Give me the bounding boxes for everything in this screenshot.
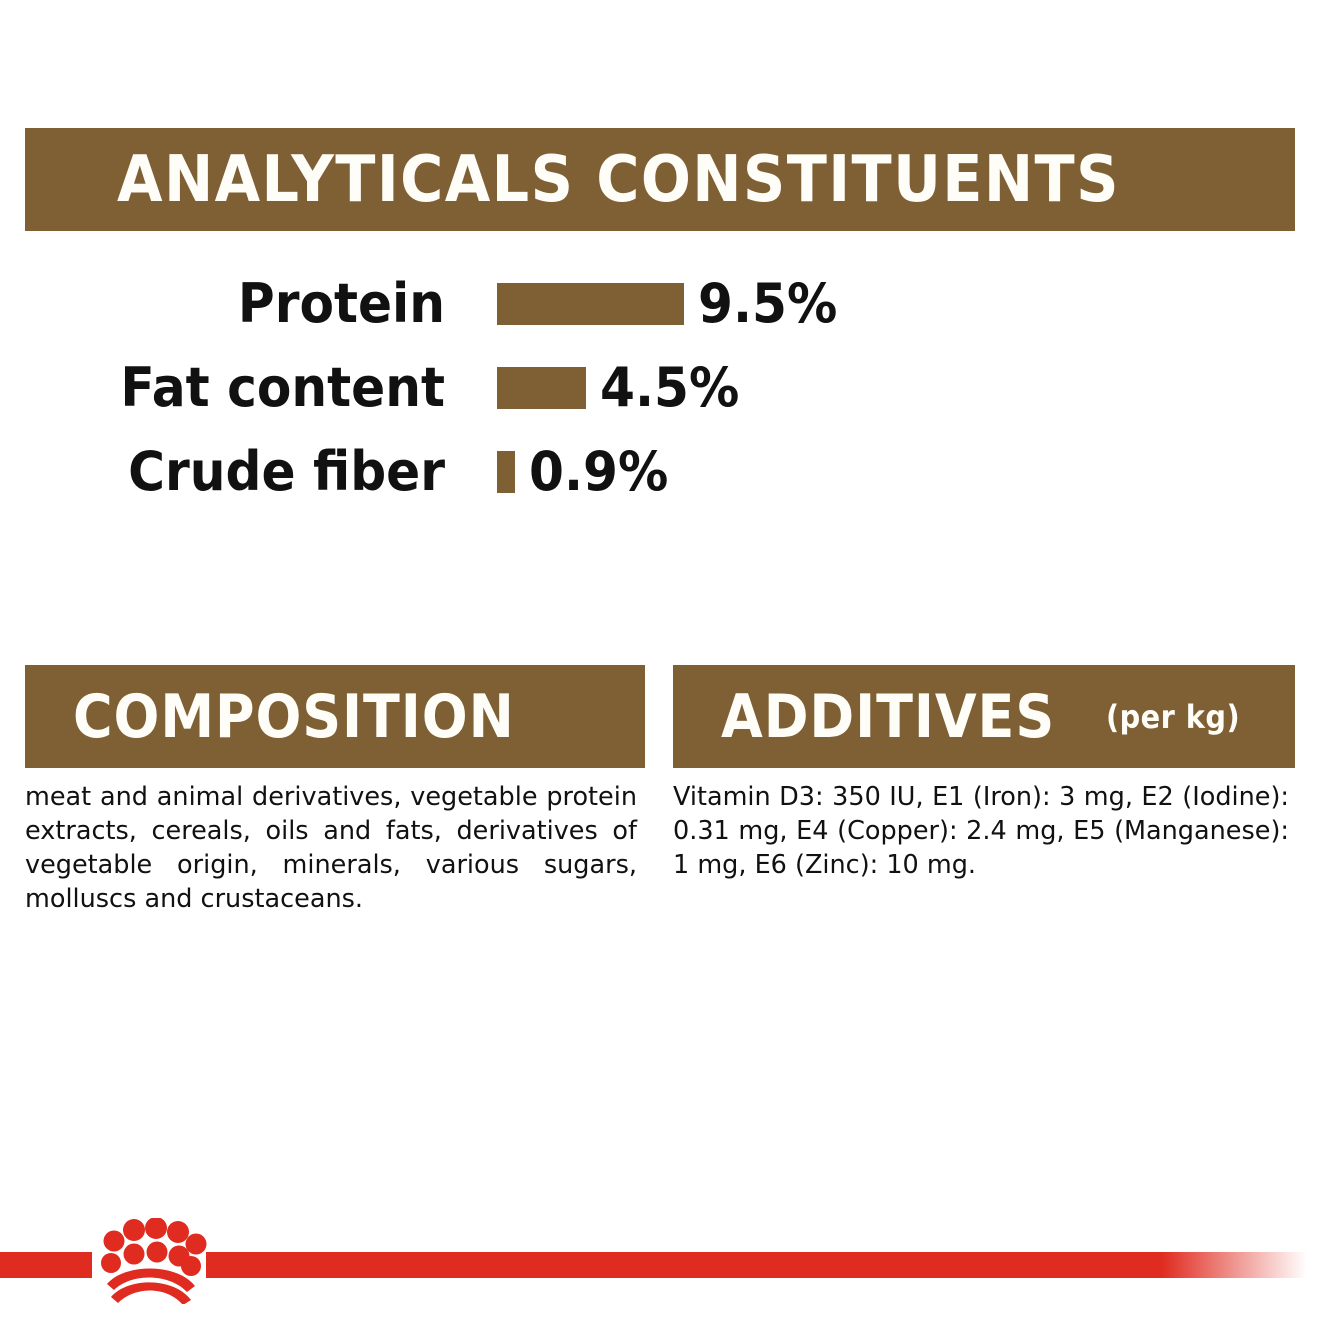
royal-canin-crown-icon: [95, 1218, 207, 1304]
additives-header: ADDITIVES (per kg): [673, 665, 1295, 768]
constituent-value: 4.5%: [600, 361, 739, 415]
constituent-row: Protein 9.5%: [0, 262, 1320, 346]
constituent-row: Crude fiber 0.9%: [0, 430, 1320, 514]
analyticals-constituents-chart: Protein 9.5% Fat content 4.5% Crude fibe…: [0, 262, 1320, 514]
composition-title: COMPOSITION: [73, 687, 515, 747]
constituent-bar: [497, 367, 586, 409]
additives-title: ADDITIVES: [721, 687, 1055, 747]
constituent-label: Crude fiber: [31, 445, 445, 499]
analyticals-title: ANALYTICALS CONSTITUENTS: [117, 148, 1120, 212]
constituent-row: Fat content 4.5%: [0, 346, 1320, 430]
constituent-label: Protein: [31, 277, 445, 331]
footer-brand-band: [0, 1252, 1320, 1320]
additives-title-suffix: (per kg): [1106, 701, 1240, 733]
composition-header: COMPOSITION: [25, 665, 645, 768]
composition-section: COMPOSITION meat and animal derivatives,…: [25, 665, 645, 917]
constituent-value: 0.9%: [529, 445, 668, 499]
constituent-bar: [497, 451, 515, 493]
analyticals-constituents-header: ANALYTICALS CONSTITUENTS: [25, 128, 1295, 231]
constituent-bar-group: 0.9%: [497, 445, 679, 499]
constituent-bar-group: 4.5%: [497, 361, 750, 415]
constituent-label: Fat content: [31, 361, 445, 415]
composition-body: meat and animal derivatives, vegetable p…: [25, 780, 639, 917]
constituent-bar-group: 9.5%: [497, 277, 848, 331]
additives-body: Vitamin D3: 350 IU, E1 (Iron): 3 mg, E2 …: [673, 780, 1291, 882]
additives-section: ADDITIVES (per kg) Vitamin D3: 350 IU, E…: [673, 665, 1295, 882]
constituent-bar: [497, 283, 684, 325]
constituent-value: 9.5%: [698, 277, 837, 331]
